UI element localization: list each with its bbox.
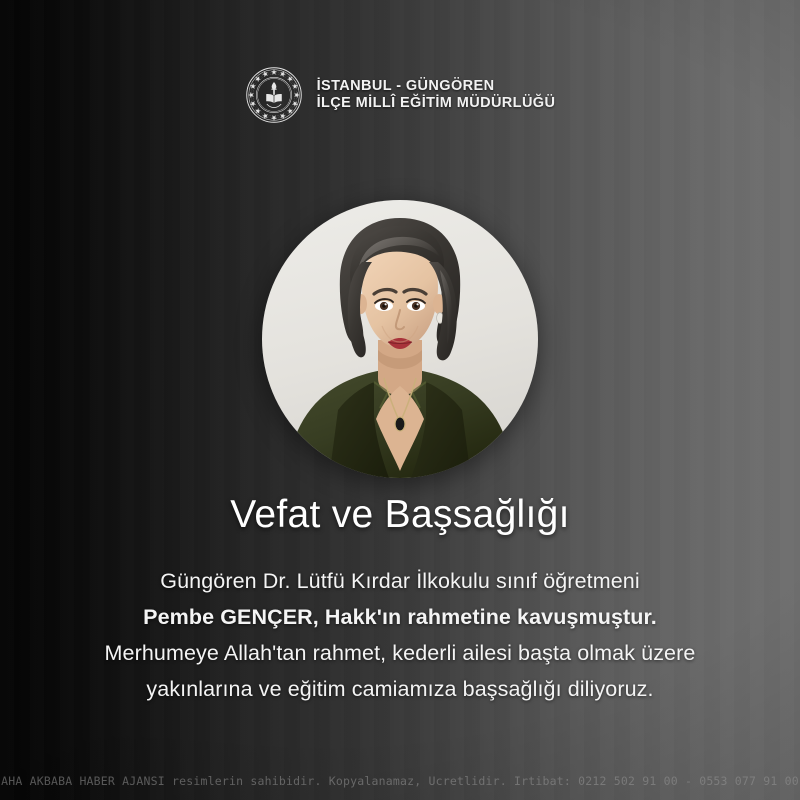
portrait-illustration [262,200,538,478]
page-title: Vefat ve Başsağlığı [0,493,800,537]
portrait-photo [262,200,538,478]
header-text-block: İSTANBUL - GÜNGÖREN İLÇE MİLLÎ EĞİTİM MÜ… [317,78,556,112]
message-line-4: yakınlarına ve eğitim camiamıza başsağlı… [0,671,800,707]
turkish-ministry-of-education-emblem-icon [245,66,303,124]
header-line-city: İSTANBUL - GÜNGÖREN [317,78,556,95]
memorial-message: Güngören Dr. Lütfü Kırdar İlkokulu sınıf… [0,563,800,707]
poster-header: İSTANBUL - GÜNGÖREN İLÇE MİLLÎ EĞİTİM MÜ… [0,66,800,124]
memorial-poster: İSTANBUL - GÜNGÖREN İLÇE MİLLÎ EĞİTİM MÜ… [0,0,800,800]
message-line-3: Merhumeye Allah'tan rahmet, kederli aile… [0,635,800,671]
message-line-1: Güngören Dr. Lütfü Kırdar İlkokulu sınıf… [0,563,800,599]
message-line-2-name: Pembe GENÇER, Hakk'ın rahmetine kavuşmuş… [0,599,800,635]
agency-watermark: AHA AKBABA HABER AJANSI resimlerin sahib… [0,774,800,788]
header-line-directorate: İLÇE MİLLÎ EĞİTİM MÜDÜRLÜĞÜ [317,95,556,112]
